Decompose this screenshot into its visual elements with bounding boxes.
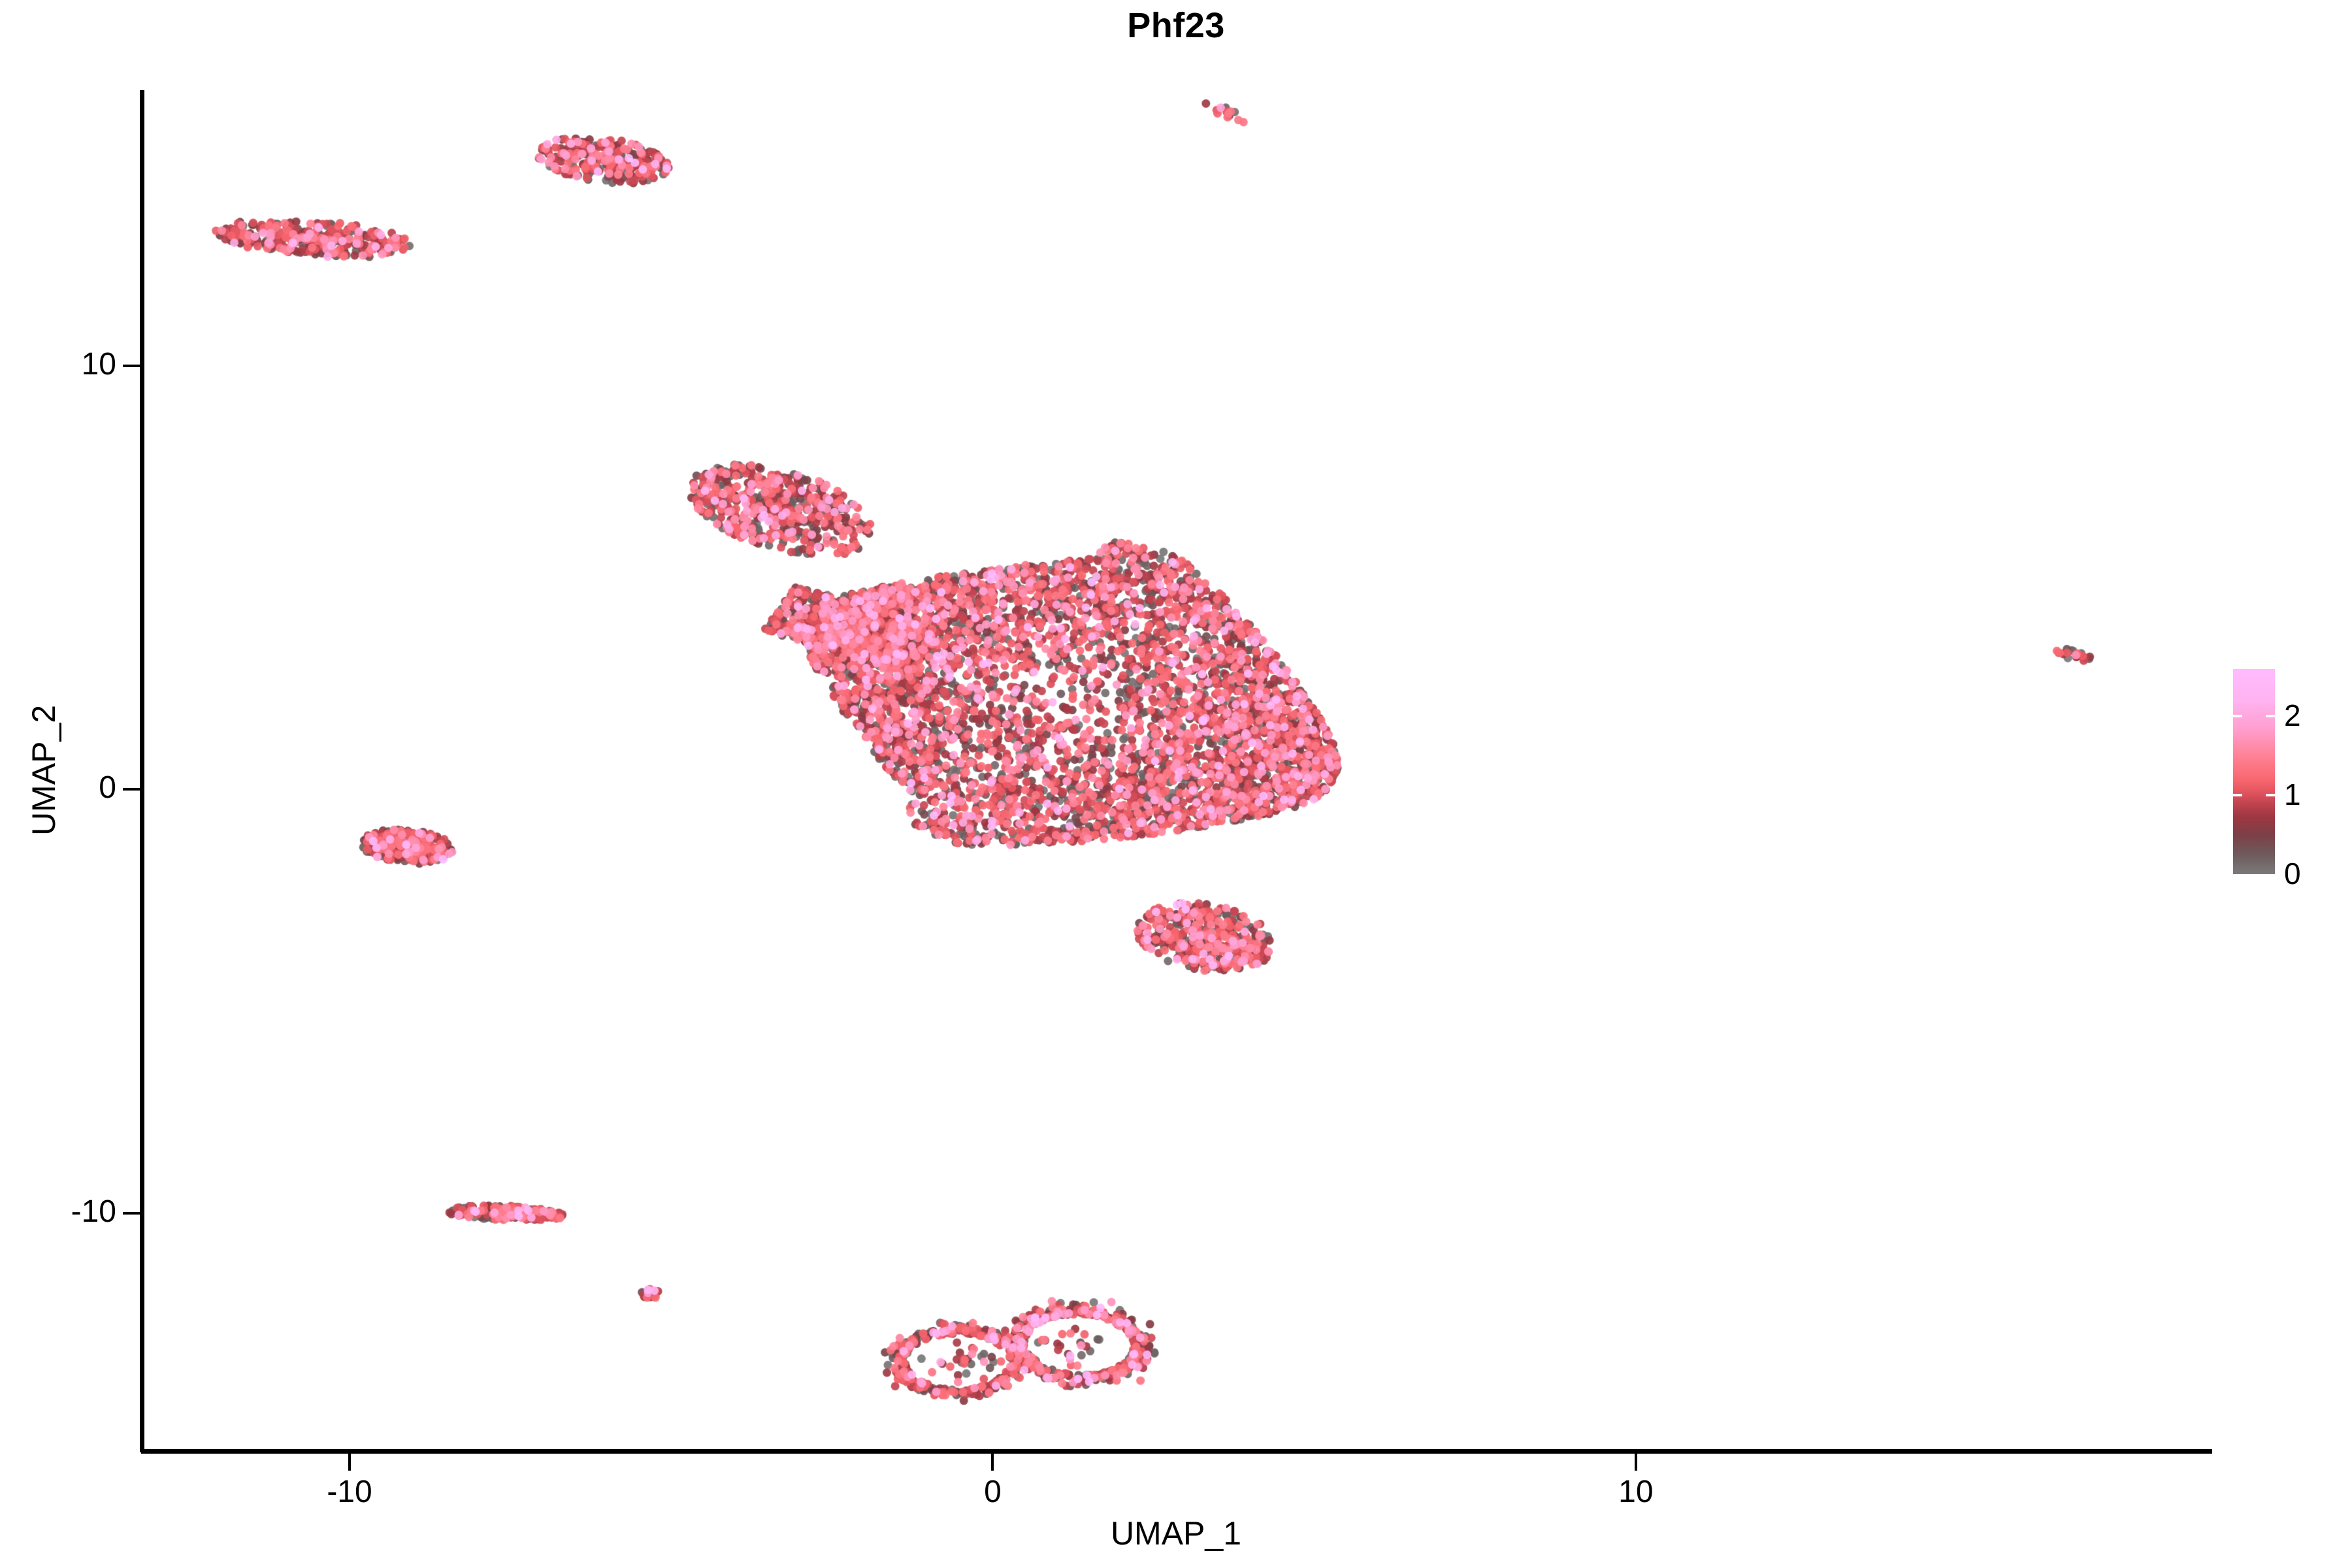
x-axis-line (141, 1449, 2212, 1454)
umap-feature-plot: Phf23 -10010 -10010 UMAP_1 UMAP_2 012 (0, 0, 2352, 1568)
x-tick-mark (991, 1454, 994, 1471)
colorbar-tick-label: 1 (2284, 779, 2301, 809)
x-tick-label: 0 (921, 1474, 1064, 1510)
y-axis-line (140, 90, 144, 1452)
y-tick-mark (123, 1212, 140, 1215)
color-legend: 012 (2233, 669, 2344, 878)
colorbar-tick-label: 0 (2284, 858, 2301, 889)
y-tick-mark (123, 788, 140, 791)
y-axis-title: UMAP_2 (25, 542, 63, 999)
x-tick-mark (348, 1454, 351, 1471)
x-tick-mark (1635, 1454, 1637, 1471)
x-axis-title: UMAP_1 (0, 1514, 2352, 1552)
x-tick-label: -10 (278, 1474, 421, 1510)
y-tick-mark (123, 365, 140, 367)
scatter-points-canvas (144, 90, 2208, 1450)
y-tick-label: -10 (0, 1194, 116, 1230)
plot-panel (144, 90, 2208, 1450)
page-title: Phf23 (0, 5, 2352, 46)
x-tick-label: 10 (1564, 1474, 1708, 1510)
y-tick-label: 10 (0, 346, 116, 382)
colorbar-gradient (2233, 669, 2275, 874)
colorbar-tick-label: 2 (2284, 700, 2301, 730)
